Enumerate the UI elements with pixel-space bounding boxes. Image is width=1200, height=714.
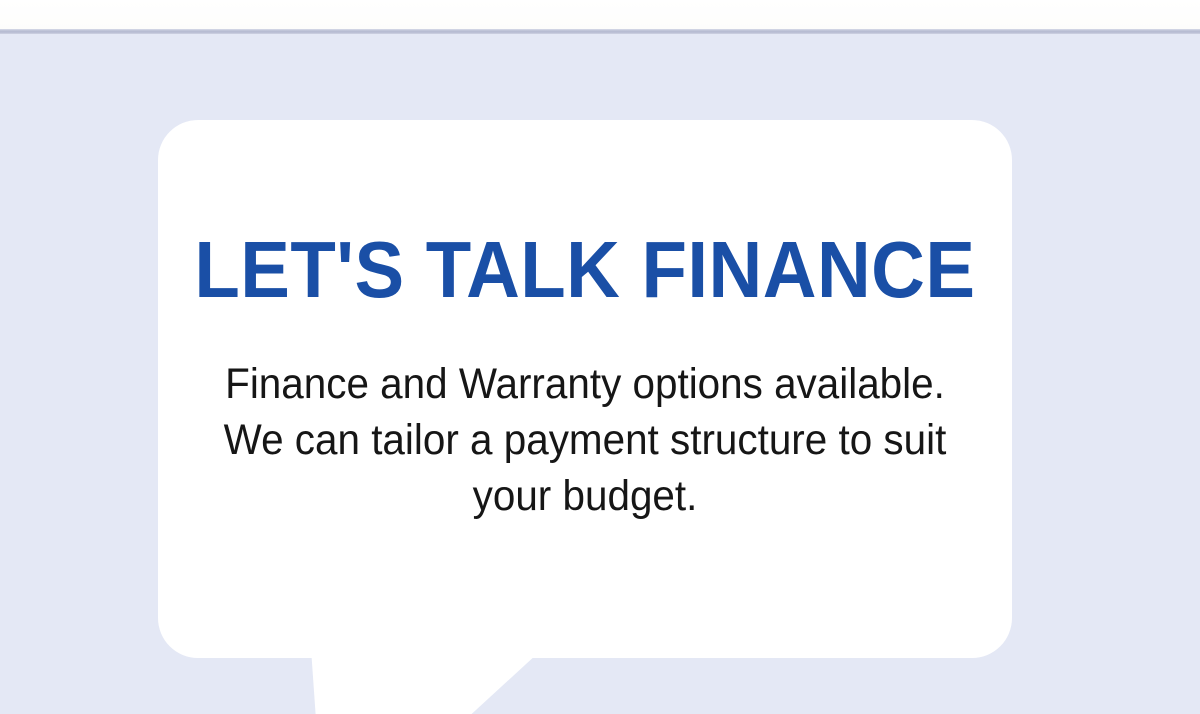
headline-lets-talk-finance: LET'S TALK FINANCE xyxy=(194,230,975,310)
promo-graphic-screen: LET'S TALK FINANCE Finance and Warranty … xyxy=(0,0,1200,714)
speech-bubble-content: LET'S TALK FINANCE Finance and Warranty … xyxy=(158,120,1012,658)
body-copy-line-3: your budget. xyxy=(216,468,955,524)
body-copy-line-1: Finance and Warranty options available. xyxy=(216,356,955,412)
body-copy-line-2: We can tailor a payment structure to sui… xyxy=(216,412,955,468)
top-white-strip xyxy=(0,0,1200,29)
body-copy-block: Finance and Warranty options available. … xyxy=(216,356,955,524)
